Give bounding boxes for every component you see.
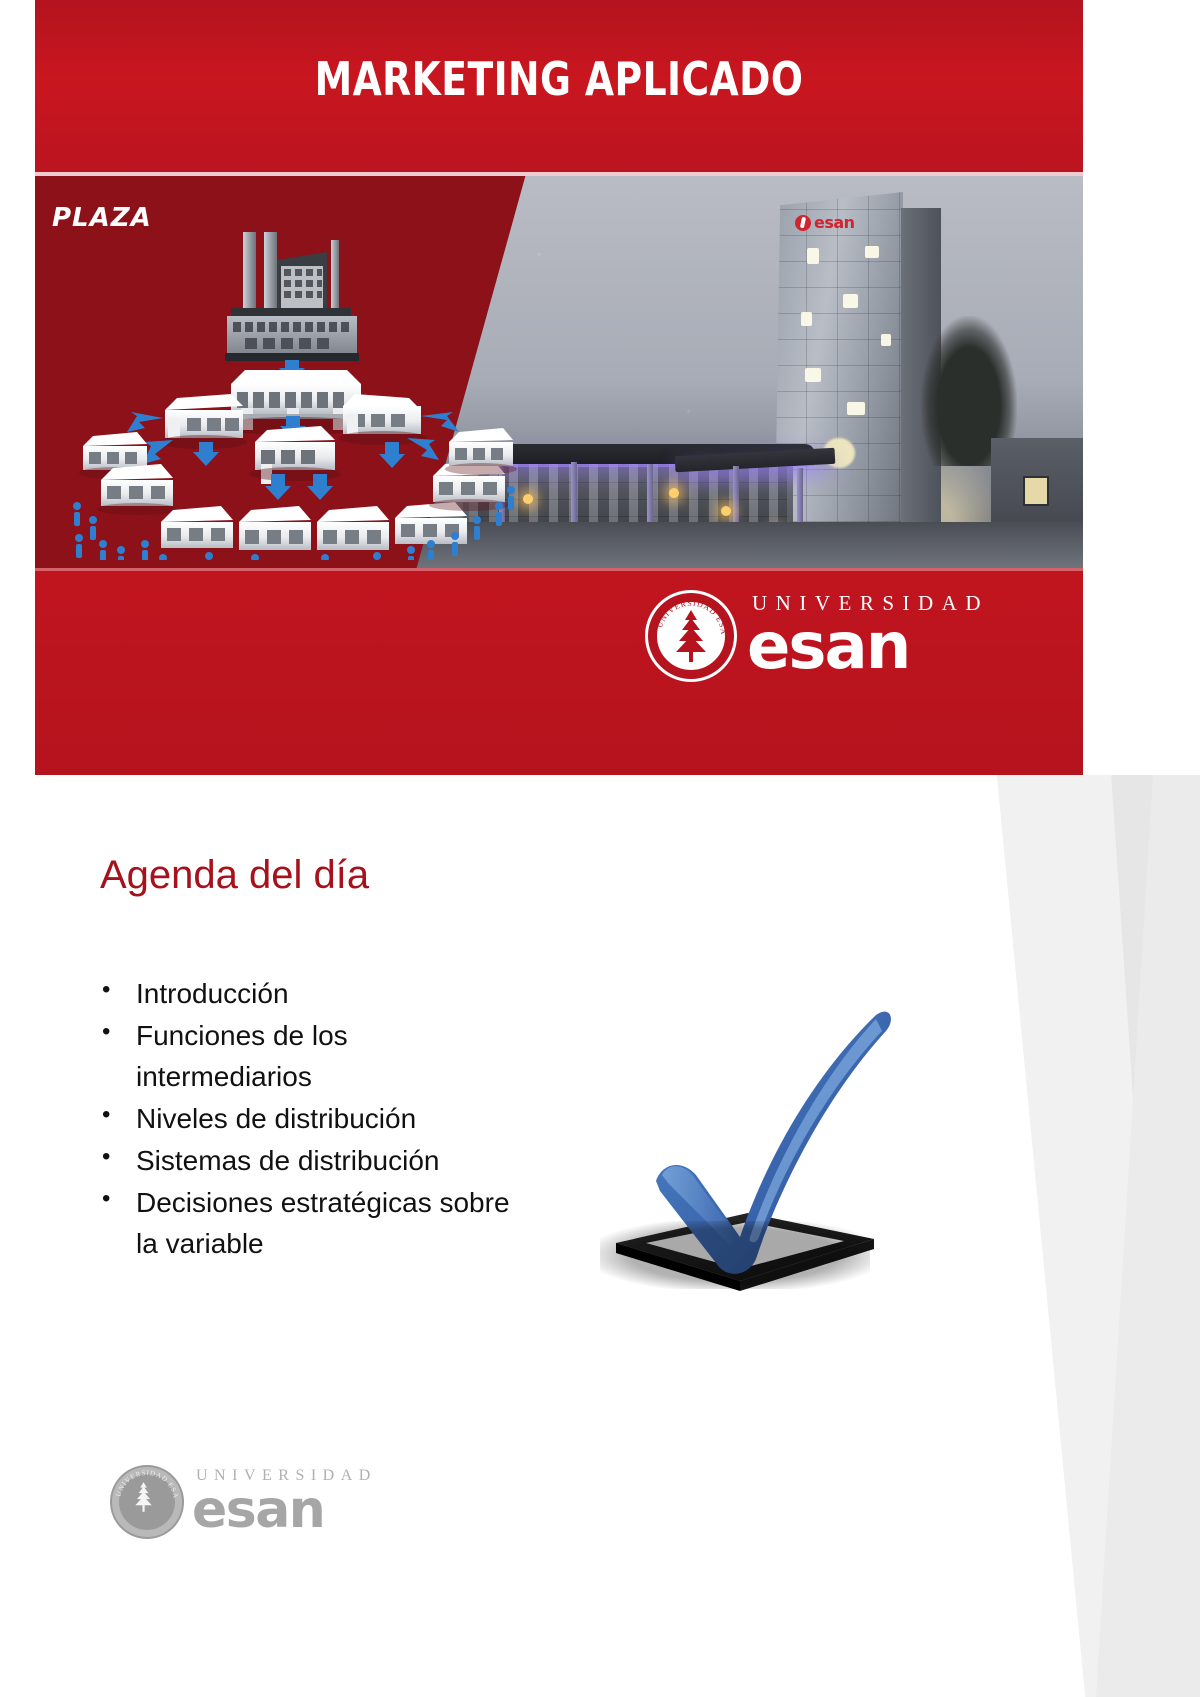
checkmark-shadow xyxy=(600,1221,870,1289)
svg-text:UNIVERSIDAD ESAN: UNIVERSIDAD ESAN xyxy=(649,594,728,636)
brand-band-divider xyxy=(35,568,1083,571)
distribution-channel-diagram xyxy=(55,210,525,560)
seal-microtext: UNIVERSIDAD ESAN xyxy=(649,594,733,678)
distributor-right-icon xyxy=(339,394,427,445)
esan-building-logo: esan xyxy=(795,212,875,234)
list-item: Introducción xyxy=(96,973,526,1015)
list-item: Funciones de los intermediarios xyxy=(96,1015,526,1098)
brand-band: UNIVERSIDAD ESAN UNIVERSIDAD esan xyxy=(35,568,1083,775)
factory-icon xyxy=(225,232,359,361)
esan-logo-footer: UNIVERSIDAD ESAN UNIVERSIDAD esan xyxy=(110,1465,377,1539)
esan-building-logo-text: esan xyxy=(814,215,855,231)
media-band: esan xyxy=(35,176,1083,568)
blue-checkmark-3d xyxy=(590,985,900,1305)
list-item: Sistemas de distribución xyxy=(96,1140,526,1182)
section-label: PLAZA xyxy=(52,203,152,233)
agenda-list: Introducción Funciones de los intermedia… xyxy=(96,973,526,1265)
esan-tree-icon-footer: UNIVERSIDAD ESAN xyxy=(110,1465,184,1539)
slide-header: MARKETING APLICADO esan xyxy=(35,0,1083,775)
distributor-left-icon xyxy=(159,394,247,449)
slide: MARKETING APLICADO esan xyxy=(0,0,1200,1697)
footer-name-word: esan xyxy=(192,1484,377,1536)
page-title: MARKETING APLICADO xyxy=(129,52,988,106)
agenda-heading: Agenda del día xyxy=(100,853,369,898)
esan-seal-icon-footer: UNIVERSIDAD ESAN xyxy=(110,1465,184,1539)
glass-tower xyxy=(775,192,903,522)
distributor-center-icon xyxy=(249,426,341,484)
esan-logo-header: UNIVERSIDAD ESAN UNIVERSIDAD esan xyxy=(645,590,989,682)
esan-mark-icon xyxy=(795,215,811,231)
slide-body: Agenda del día Introducción Funciones de… xyxy=(0,775,1200,1697)
esan-seal-icon: UNIVERSIDAD ESAN xyxy=(645,590,737,682)
title-band: MARKETING APLICADO xyxy=(35,0,1083,172)
list-item: Niveles de distribución xyxy=(96,1098,526,1140)
list-item: Decisiones estratégicas sobre la variabl… xyxy=(96,1182,526,1265)
brand-name-word: esan xyxy=(747,615,989,679)
